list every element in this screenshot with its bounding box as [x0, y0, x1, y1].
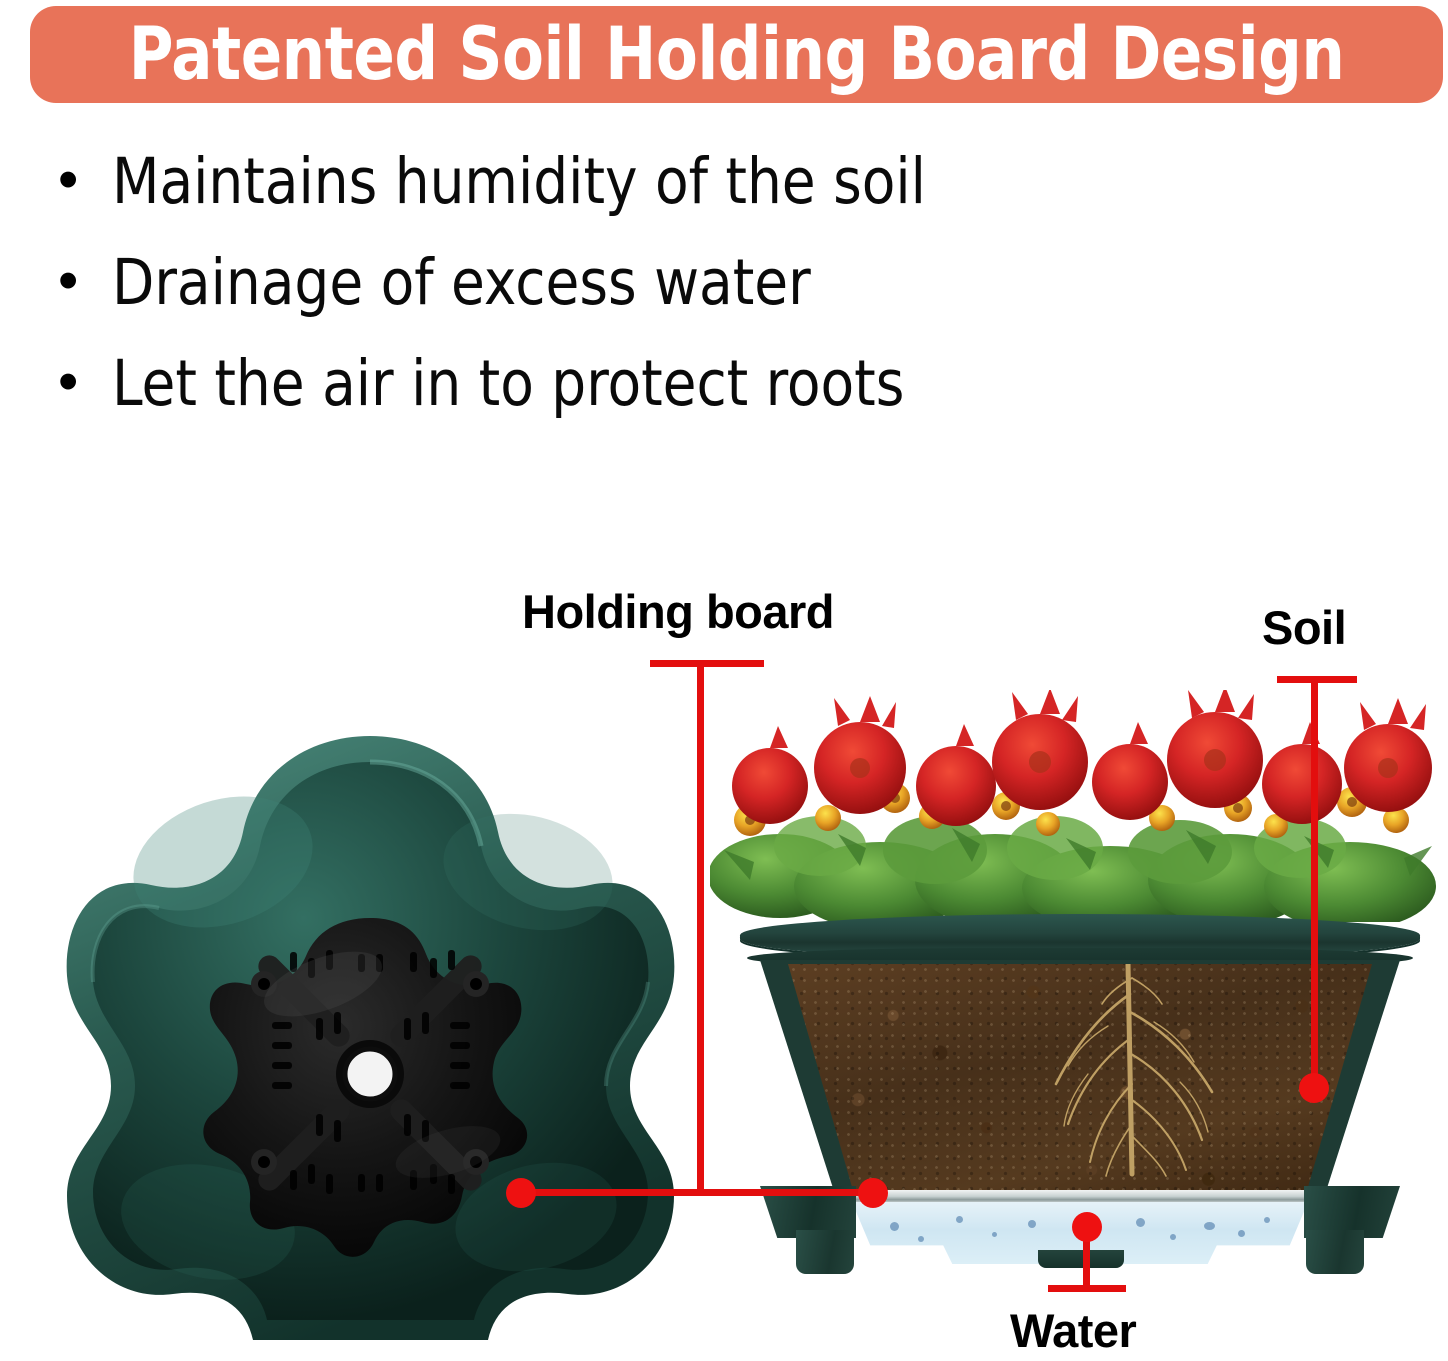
callout-label-water: Water [1010, 1307, 1136, 1354]
soil-marker [1299, 1073, 1329, 1103]
pot-foot-left [796, 1230, 854, 1274]
holding-board-marker-right [858, 1178, 888, 1208]
flower-bed [710, 690, 1440, 922]
callout-label-holding-board: Holding board [522, 588, 834, 635]
water-marker [1072, 1212, 1102, 1242]
foliage [710, 816, 1436, 922]
planter-photo [58, 722, 683, 1342]
four-lobe-planter-top-view [58, 722, 683, 1342]
planter-illustration [58, 722, 683, 1342]
red-chrysanthemums [732, 690, 1432, 826]
holding-board-plate [835, 1190, 1325, 1204]
soil-leader-stem [1311, 676, 1318, 1088]
callout-label-soil: Soil [1262, 604, 1346, 651]
holding-board-marker-left [506, 1178, 536, 1208]
product-diagram: Holding board Soil Water [0, 0, 1448, 1361]
chrysanthemum-illustration [710, 690, 1440, 922]
pot-foot-right [1306, 1230, 1364, 1274]
holding-board-leader-horizontal [520, 1189, 874, 1196]
holding-board-leader-stem [697, 660, 704, 1193]
holding-board-leader-bar [650, 660, 764, 667]
plant-roots [788, 964, 1372, 1198]
center-drain-hole [336, 1040, 404, 1108]
pot-foot-center [1038, 1250, 1124, 1268]
planter-cross-section [700, 690, 1448, 1290]
